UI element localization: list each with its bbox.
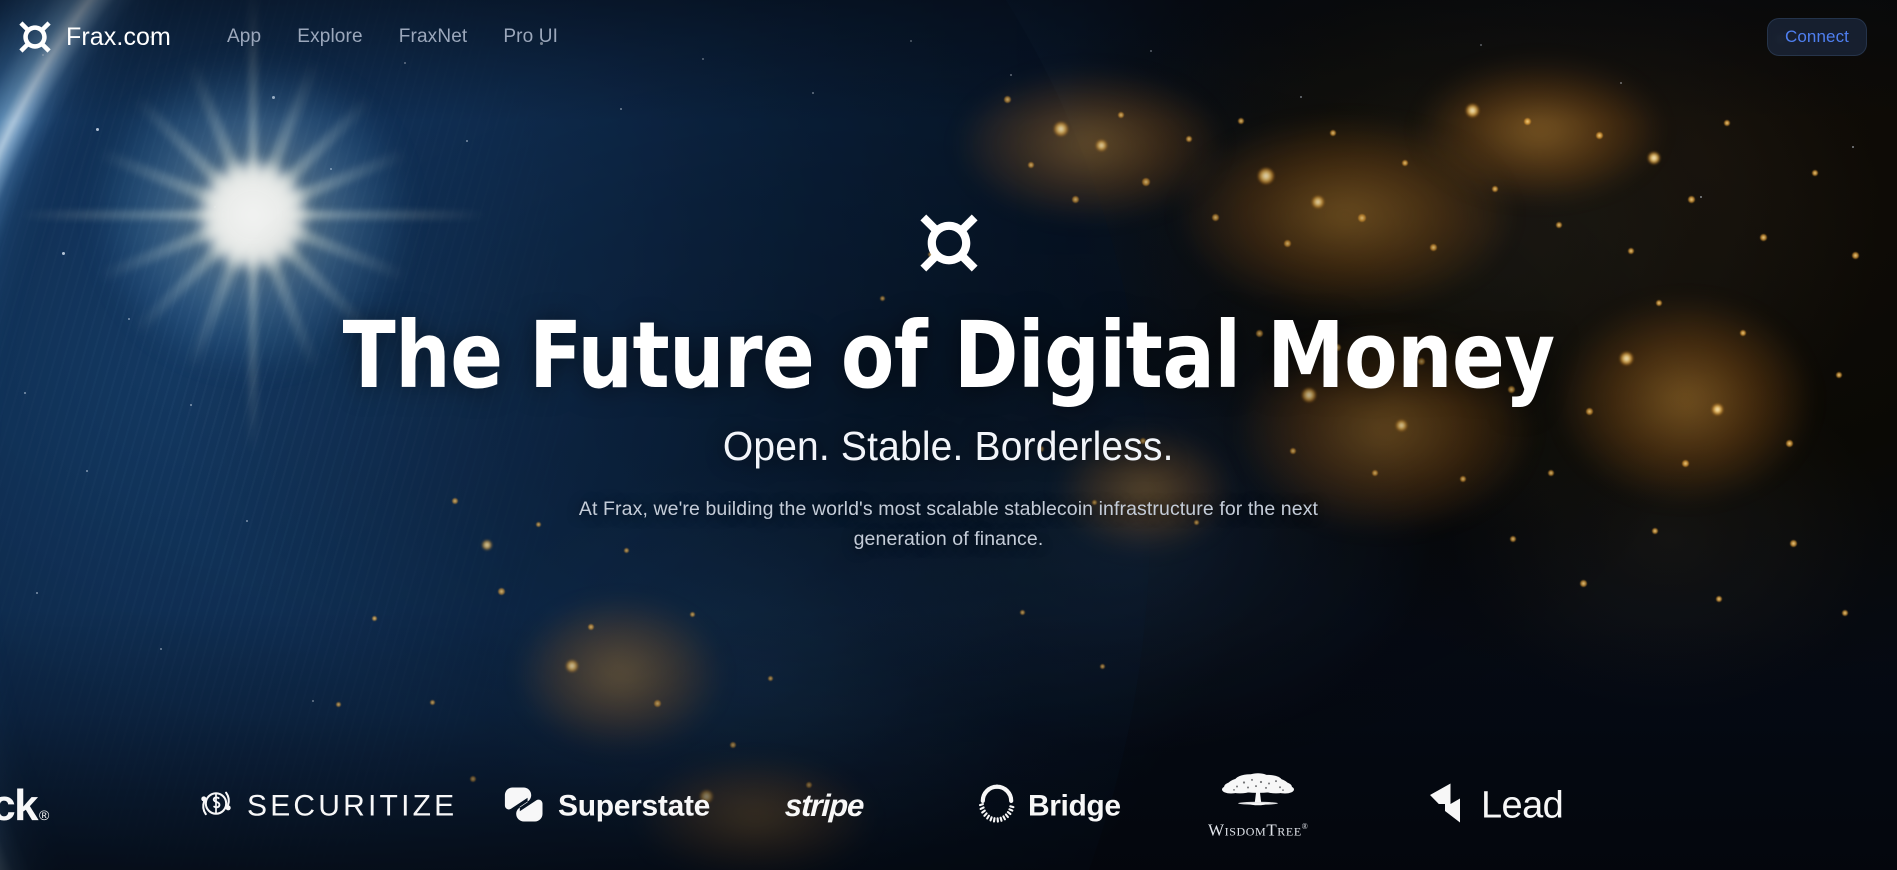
partner-label-bridge: Bridge	[1028, 789, 1121, 823]
securitize-s-orbit-icon	[196, 784, 236, 829]
partner-label-superstate: Superstate	[558, 789, 710, 823]
partner-label-securitize: SECURITIZE	[247, 789, 457, 823]
brand-home-link[interactable]: Frax.com	[18, 20, 171, 54]
nav-link-explore[interactable]: Explore	[297, 26, 362, 48]
hero-description: At Frax, we're building the world's most…	[549, 495, 1349, 554]
partner-label-stripe: stripe	[784, 788, 864, 824]
nav-link-pro-ui[interactable]: Pro UI	[503, 26, 558, 48]
partner-logo-blackrock[interactable]: ock®	[0, 781, 48, 831]
trademark-symbol: ®	[1302, 822, 1309, 831]
frax-logo-icon	[918, 212, 980, 310]
trademark-symbol: ®	[39, 807, 48, 823]
partner-label-lead: Lead	[1481, 785, 1563, 828]
partner-logo-securitize[interactable]: SECURITIZE	[196, 784, 457, 829]
superstate-infinity-icon	[501, 785, 547, 828]
partner-logo-superstate[interactable]: Superstate	[501, 785, 710, 828]
page-root: Frax.com App Explore FraxNet Pro UI Conn…	[0, 0, 1897, 870]
partner-logo-stripe[interactable]: stripe	[785, 788, 863, 824]
partner-label-blackrock: ock	[0, 781, 37, 831]
wisdomtree-tree-icon	[1210, 772, 1306, 819]
bridge-ring-icon	[977, 783, 1017, 830]
partner-label-wisdomtree: WisdomTree	[1208, 821, 1302, 840]
lead-arrow-icon	[1426, 781, 1470, 832]
nav-link-app[interactable]: App	[227, 26, 261, 48]
brand-name: Frax.com	[66, 23, 171, 52]
partner-logo-lead[interactable]: Lead	[1426, 781, 1563, 832]
connect-wallet-button[interactable]: Connect	[1767, 18, 1867, 56]
hero-subtitle: Open. Stable. Borderless.	[723, 424, 1174, 469]
top-navigation-bar: Frax.com App Explore FraxNet Pro UI Conn…	[0, 0, 1897, 74]
partner-logo-wisdomtree[interactable]: WisdomTree®	[1208, 772, 1308, 841]
partner-logo-bridge[interactable]: Bridge	[977, 783, 1121, 830]
partner-logos-strip: ock® SECURITIZE	[0, 742, 1897, 870]
nav-links: App Explore FraxNet Pro UI	[227, 26, 558, 48]
page-title: The Future of Digital Money	[343, 310, 1555, 402]
nav-link-fraxnet[interactable]: FraxNet	[399, 26, 468, 48]
hero-section: The Future of Digital Money Open. Stable…	[0, 0, 1897, 742]
frax-logo-icon	[18, 20, 52, 54]
